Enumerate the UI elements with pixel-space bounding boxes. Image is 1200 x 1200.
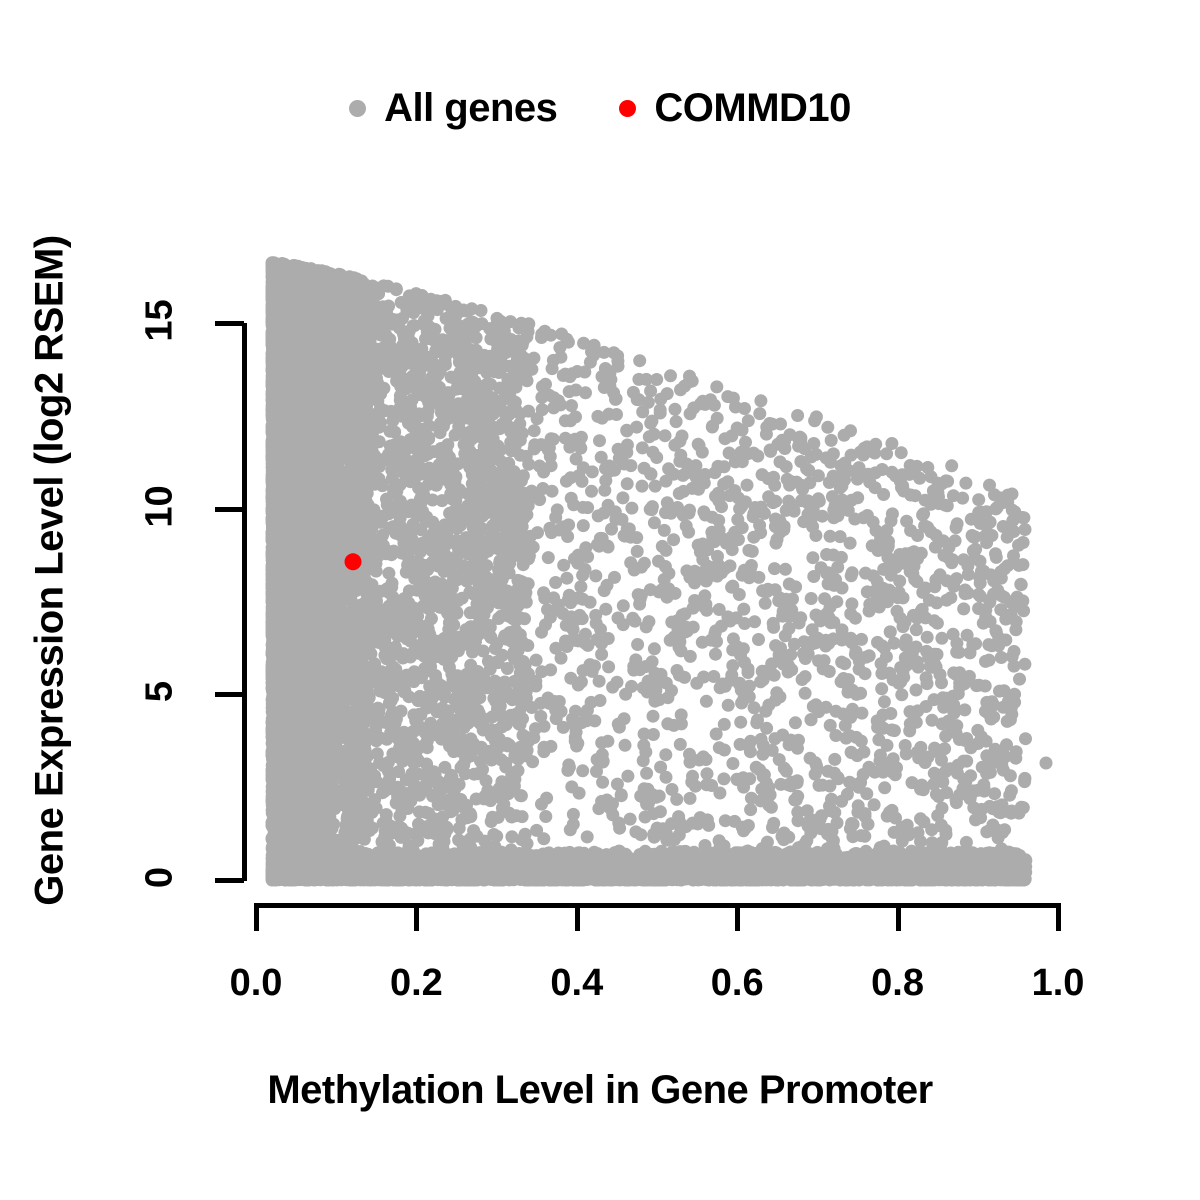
data-point: [1019, 732, 1032, 745]
data-point: [419, 806, 432, 819]
data-point: [631, 638, 644, 651]
data-point: [785, 475, 798, 488]
data-point: [717, 772, 730, 785]
data-point: [800, 462, 813, 475]
data-point: [602, 660, 615, 673]
data-point: [388, 426, 401, 439]
data-point: [516, 810, 529, 823]
data-point: [888, 724, 901, 737]
data-point: [1005, 784, 1018, 797]
data-point: [788, 794, 801, 807]
data-point: [577, 519, 590, 532]
data-point: [869, 438, 882, 451]
data-point: [685, 776, 698, 789]
data-point: [878, 695, 891, 708]
data-point: [985, 529, 998, 542]
data-point: [825, 793, 838, 806]
data-point: [1013, 673, 1026, 686]
data-point: [648, 695, 661, 708]
data-point: [542, 551, 555, 564]
data-point: [606, 681, 619, 694]
data-point: [904, 705, 917, 718]
data-point: [646, 446, 659, 459]
data-point: [670, 793, 683, 806]
data-point: [602, 408, 615, 421]
data-point: [634, 828, 647, 841]
data-point: [700, 695, 713, 708]
scatter-canvas: [0, 0, 1200, 1200]
data-point: [959, 587, 972, 600]
data-point: [398, 684, 411, 697]
data-point: [754, 394, 767, 407]
data-point: [684, 792, 697, 805]
data-point: [751, 714, 764, 727]
data-point: [753, 407, 766, 420]
data-point: [821, 421, 834, 434]
data-point: [576, 475, 589, 488]
data-point: [868, 766, 881, 779]
data-points-layer: [266, 256, 1053, 886]
data-point: [829, 705, 842, 718]
data-point: [759, 597, 772, 610]
data-point: [636, 480, 649, 493]
data-point: [667, 533, 680, 546]
data-point: [547, 433, 560, 446]
data-point: [791, 409, 804, 422]
data-point: [537, 832, 550, 845]
data-point: [557, 559, 570, 572]
data-point: [1017, 536, 1030, 549]
data-point: [403, 584, 416, 597]
data-point: [625, 680, 638, 693]
data-point: [910, 623, 923, 636]
data-point: [654, 761, 667, 774]
plot-area: [0, 0, 1200, 1200]
data-point: [674, 738, 687, 751]
data-point: [585, 485, 598, 498]
data-point: [824, 719, 837, 732]
data-point: [805, 592, 818, 605]
data-point: [572, 679, 585, 692]
data-point: [796, 673, 809, 686]
data-point: [845, 746, 858, 759]
data-point: [632, 393, 645, 406]
data-point: [828, 753, 841, 766]
data-point: [669, 403, 682, 416]
data-point: [935, 836, 948, 849]
data-point: [555, 328, 568, 341]
data-point: [713, 741, 726, 754]
data-point: [640, 620, 653, 633]
data-point: [1004, 769, 1017, 782]
data-point: [880, 447, 893, 460]
data-point: [895, 688, 908, 701]
data-point: [739, 436, 752, 449]
data-point: [421, 741, 434, 754]
data-point: [845, 817, 858, 830]
data-point: [633, 598, 646, 611]
data-point: [809, 756, 822, 769]
data-point: [631, 545, 644, 558]
data-point: [619, 739, 632, 752]
data-point: [931, 617, 944, 630]
data-point: [573, 787, 586, 800]
data-point: [939, 824, 952, 837]
data-point: [613, 822, 626, 835]
data-point: [674, 383, 687, 396]
data-point: [789, 716, 802, 729]
data-point: [621, 770, 634, 783]
data-point: [569, 410, 582, 423]
data-point: [780, 460, 793, 473]
data-point: [576, 569, 589, 582]
data-point: [845, 449, 858, 462]
data-point: [895, 446, 908, 459]
data-point: [621, 477, 634, 490]
data-point: [779, 629, 792, 642]
data-point: [640, 767, 653, 780]
data-point: [683, 504, 696, 517]
data-point: [760, 428, 773, 441]
data-point: [586, 465, 599, 478]
data-point: [644, 583, 657, 596]
data-point: [673, 487, 686, 500]
data-point: [789, 580, 802, 593]
data-point: [616, 491, 629, 504]
data-point: [972, 737, 985, 750]
data-point: [737, 771, 750, 784]
data-point: [591, 410, 604, 423]
data-point: [633, 354, 646, 367]
data-point: [957, 602, 970, 615]
data-point: [835, 551, 848, 564]
data-point: [725, 429, 738, 442]
data-point: [799, 687, 812, 700]
scatter-plot-figure: All genes COMMD10 051015 0.00.20.40.60.8…: [0, 0, 1200, 1200]
data-point: [647, 710, 660, 723]
data-point: [599, 603, 612, 616]
data-point: [551, 503, 564, 516]
data-point: [875, 667, 888, 680]
data-point: [595, 736, 608, 749]
data-point: [706, 511, 719, 524]
data-point: [761, 585, 774, 598]
data-point: [930, 771, 943, 784]
